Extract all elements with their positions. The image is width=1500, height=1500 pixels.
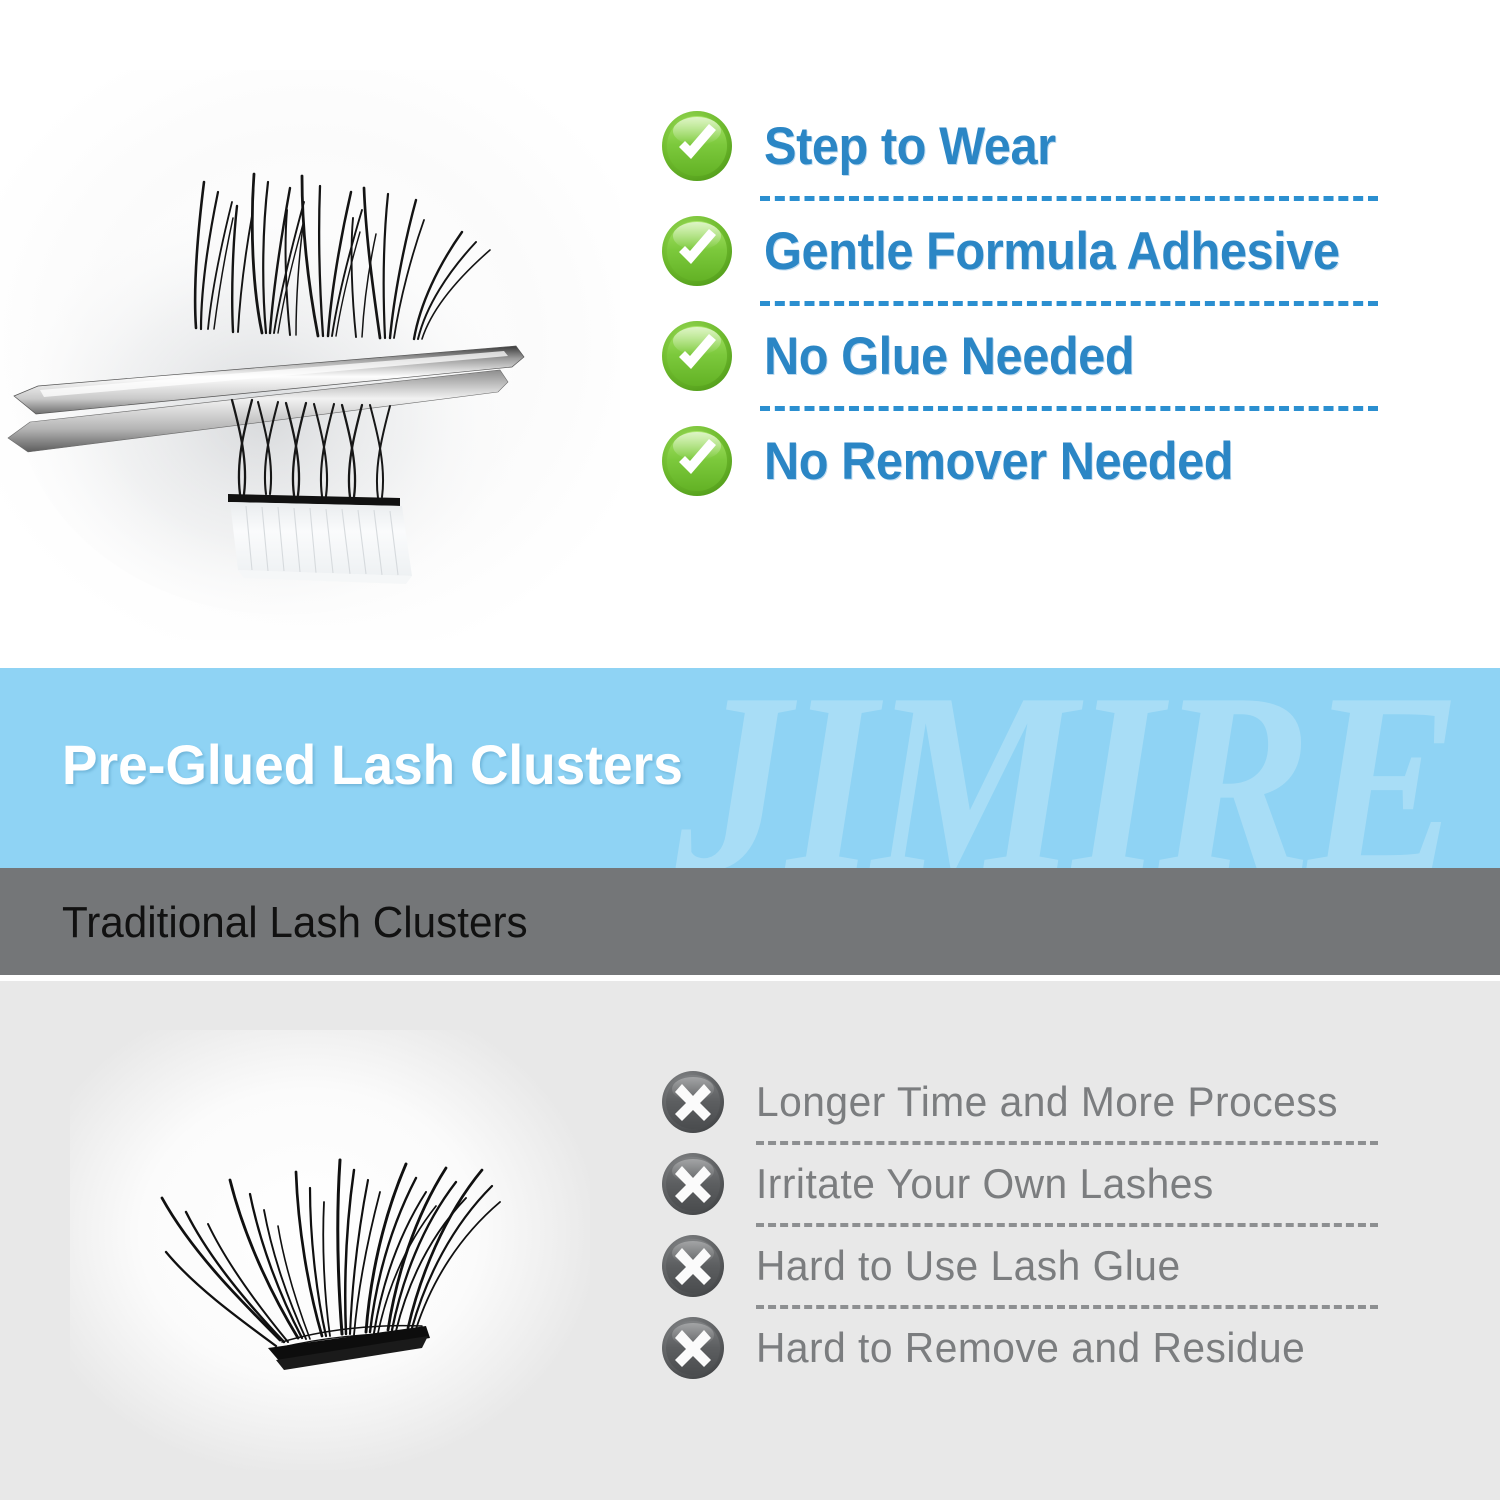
drawback-item: Hard to Remove and Residue <box>660 1309 1390 1387</box>
gray-cross-icon <box>660 1315 726 1381</box>
brand-watermark: JIMIRE <box>676 668 1457 868</box>
benefit-label: Gentle Formula Adhesive <box>764 225 1340 278</box>
pre-glued-panel: Step to Wear Gentle Formula Adhesive <box>0 0 1500 668</box>
green-check-icon <box>660 109 734 183</box>
drawback-item: Hard to Use Lash Glue <box>660 1227 1390 1305</box>
gray-cross-icon <box>660 1151 726 1217</box>
drawback-label: Irritate Your Own Lashes <box>756 1163 1214 1205</box>
drawbacks-list: Longer Time and More Process Irritate Yo… <box>660 1063 1390 1387</box>
green-check-icon <box>660 214 734 288</box>
traditional-lash-photo <box>70 1030 590 1470</box>
benefit-item: No Glue Needed <box>660 306 1390 406</box>
drawback-label: Hard to Use Lash Glue <box>756 1245 1181 1287</box>
gray-cross-icon <box>660 1233 726 1299</box>
benefit-item: Gentle Formula Adhesive <box>660 201 1390 301</box>
traditional-banner-title: Traditional Lash Clusters <box>62 901 528 945</box>
green-check-icon <box>660 319 734 393</box>
green-check-icon <box>660 424 734 498</box>
drawback-label: Hard to Remove and Residue <box>756 1327 1305 1369</box>
benefit-item: Step to Wear <box>660 96 1390 196</box>
pre-glued-banner-title: Pre-Glued Lash Clusters <box>62 737 683 793</box>
infographic-page: Step to Wear Gentle Formula Adhesive <box>0 0 1500 1500</box>
pre-glued-lash-photo <box>0 70 620 640</box>
benefit-label: No Remover Needed <box>764 435 1233 488</box>
benefit-label: Step to Wear <box>764 120 1056 173</box>
benefit-label: No Glue Needed <box>764 330 1134 383</box>
drawback-item: Irritate Your Own Lashes <box>660 1145 1390 1223</box>
benefits-list: Step to Wear Gentle Formula Adhesive <box>660 96 1390 511</box>
benefit-item: No Remover Needed <box>660 411 1390 511</box>
drawback-label: Longer Time and More Process <box>756 1081 1338 1123</box>
gray-cross-icon <box>660 1069 726 1135</box>
drawback-item: Longer Time and More Process <box>660 1063 1390 1141</box>
